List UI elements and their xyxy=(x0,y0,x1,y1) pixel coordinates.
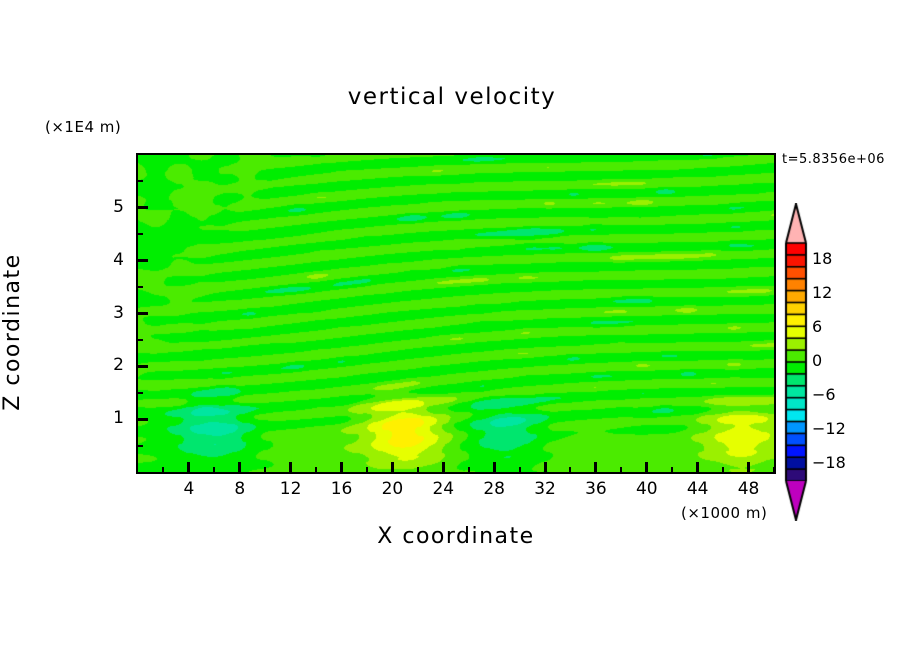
x-axis-title: X coordinate xyxy=(136,524,776,549)
x-tick-label: 20 xyxy=(367,479,417,499)
x-tick-label: 36 xyxy=(571,479,621,499)
colorbar-tick-label: 18 xyxy=(812,249,832,268)
colorbar-tick-label: −12 xyxy=(812,419,846,438)
figure-canvas: vertical velocity (×1E4 m) t=5.8356e+06 … xyxy=(0,0,904,654)
y-axis-title: Z coordinate xyxy=(0,232,25,432)
x-tick-label: 32 xyxy=(520,479,570,499)
y-tick-minor xyxy=(136,233,143,235)
colorbar-tick-label: −18 xyxy=(812,453,846,472)
y-tick-minor xyxy=(136,339,143,341)
colorbar-gradient xyxy=(784,203,808,521)
x-tick-minor xyxy=(569,467,571,474)
x-tick-major xyxy=(696,462,699,474)
x-tick-minor xyxy=(620,467,622,474)
x-tick-major xyxy=(391,462,394,474)
x-tick-label: 12 xyxy=(266,479,316,499)
y-tick-label: 3 xyxy=(80,303,124,323)
time-annotation: t=5.8356e+06 xyxy=(782,152,885,167)
y-tick-minor xyxy=(136,286,143,288)
x-tick-minor xyxy=(417,467,419,474)
x-tick-label: 16 xyxy=(317,479,367,499)
colorbar-tick-label: 12 xyxy=(812,283,832,302)
x-tick-major xyxy=(238,462,241,474)
y-tick-label: 2 xyxy=(80,355,124,375)
x-tick-minor xyxy=(671,467,673,474)
y-tick-major xyxy=(136,312,148,315)
x-tick-major xyxy=(493,462,496,474)
x-tick-label: 28 xyxy=(469,479,519,499)
y-tick-label: 4 xyxy=(80,250,124,270)
y-axis-unit-label: (×1E4 m) xyxy=(45,118,121,136)
x-tick-minor xyxy=(366,467,368,474)
y-tick-major xyxy=(136,259,148,262)
y-tick-label: 1 xyxy=(80,408,124,428)
x-tick-label: 8 xyxy=(215,479,265,499)
x-tick-minor xyxy=(468,467,470,474)
x-tick-minor xyxy=(519,467,521,474)
x-axis-unit-label: (×1000 m) xyxy=(681,504,767,522)
x-tick-minor xyxy=(773,467,775,474)
x-tick-label: 44 xyxy=(673,479,723,499)
plot-area xyxy=(136,153,776,474)
contour-field xyxy=(138,155,774,472)
y-tick-minor xyxy=(136,445,143,447)
y-tick-major xyxy=(136,365,148,368)
x-tick-major xyxy=(340,462,343,474)
page-title: vertical velocity xyxy=(0,84,904,110)
x-tick-minor xyxy=(213,467,215,474)
x-tick-label: 40 xyxy=(622,479,672,499)
x-tick-label: 24 xyxy=(418,479,468,499)
colorbar-tick-label: 6 xyxy=(812,317,822,336)
x-tick-minor xyxy=(315,467,317,474)
y-tick-label: 5 xyxy=(80,197,124,217)
x-tick-minor xyxy=(722,467,724,474)
x-tick-major xyxy=(645,462,648,474)
y-tick-major xyxy=(136,206,148,209)
x-tick-major xyxy=(747,462,750,474)
x-tick-minor xyxy=(162,467,164,474)
x-tick-major xyxy=(187,462,190,474)
x-tick-minor xyxy=(264,467,266,474)
x-tick-major xyxy=(289,462,292,474)
colorbar-tick-label: 0 xyxy=(812,351,822,370)
y-tick-major xyxy=(136,418,148,421)
x-tick-major xyxy=(594,462,597,474)
y-tick-minor xyxy=(136,392,143,394)
x-tick-major xyxy=(442,462,445,474)
y-tick-minor xyxy=(136,180,143,182)
colorbar-tick-label: −6 xyxy=(812,385,836,404)
x-tick-label: 48 xyxy=(724,479,774,499)
x-tick-major xyxy=(544,462,547,474)
colorbar xyxy=(784,203,808,521)
x-tick-label: 4 xyxy=(164,479,214,499)
